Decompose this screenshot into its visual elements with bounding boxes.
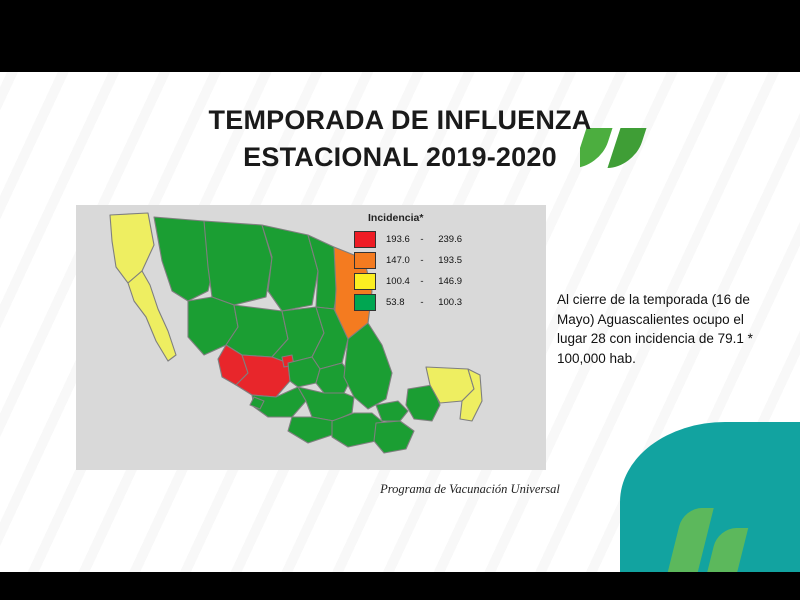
page-title: TEMPORADA DE INFLUENZA ESTACIONAL 2019-2… [0, 102, 800, 177]
slide-stage: TEMPORADA DE INFLUENZA ESTACIONAL 2019-2… [0, 0, 800, 600]
legend-row: 53.8 - 100.3 [354, 292, 484, 313]
legend-from: 193.6 [386, 234, 412, 245]
legend-to: 100.3 [432, 297, 462, 308]
legend-to: 193.5 [432, 255, 462, 266]
legend-dash: - [412, 255, 432, 266]
legend-swatch-green [354, 294, 376, 311]
decoration-bottom-right [570, 422, 800, 572]
legend-row: 147.0 - 193.5 [354, 250, 484, 271]
legend-from: 100.4 [386, 276, 412, 287]
legend-swatch-red [354, 231, 376, 248]
legend-swatch-orange [354, 252, 376, 269]
title-line-1: TEMPORADA DE INFLUENZA [0, 102, 800, 139]
legend-dash: - [412, 276, 432, 287]
legend-row: 100.4 - 146.9 [354, 271, 484, 292]
legend-to: 239.6 [432, 234, 462, 245]
title-line-2: ESTACIONAL 2019-2020 [0, 139, 800, 176]
legend-from: 53.8 [386, 297, 412, 308]
map-image: Incidencia* 193.6 - 239.6 147.0 - 193.5 … [76, 205, 546, 470]
legend-from: 147.0 [386, 255, 412, 266]
legend-title: Incidencia* [368, 212, 484, 224]
legend-swatch-yellow [354, 273, 376, 290]
map-caption: Programa de Vacunación Universal [340, 482, 600, 497]
legend: Incidencia* 193.6 - 239.6 147.0 - 193.5 … [354, 212, 484, 313]
legend-to: 146.9 [432, 276, 462, 287]
legend-row: 193.6 - 239.6 [354, 229, 484, 250]
legend-dash: - [412, 234, 432, 245]
slide-canvas: TEMPORADA DE INFLUENZA ESTACIONAL 2019-2… [0, 72, 800, 572]
legend-dash: - [412, 297, 432, 308]
summary-note: Al cierre de la temporada (16 de Mayo) A… [557, 290, 762, 368]
